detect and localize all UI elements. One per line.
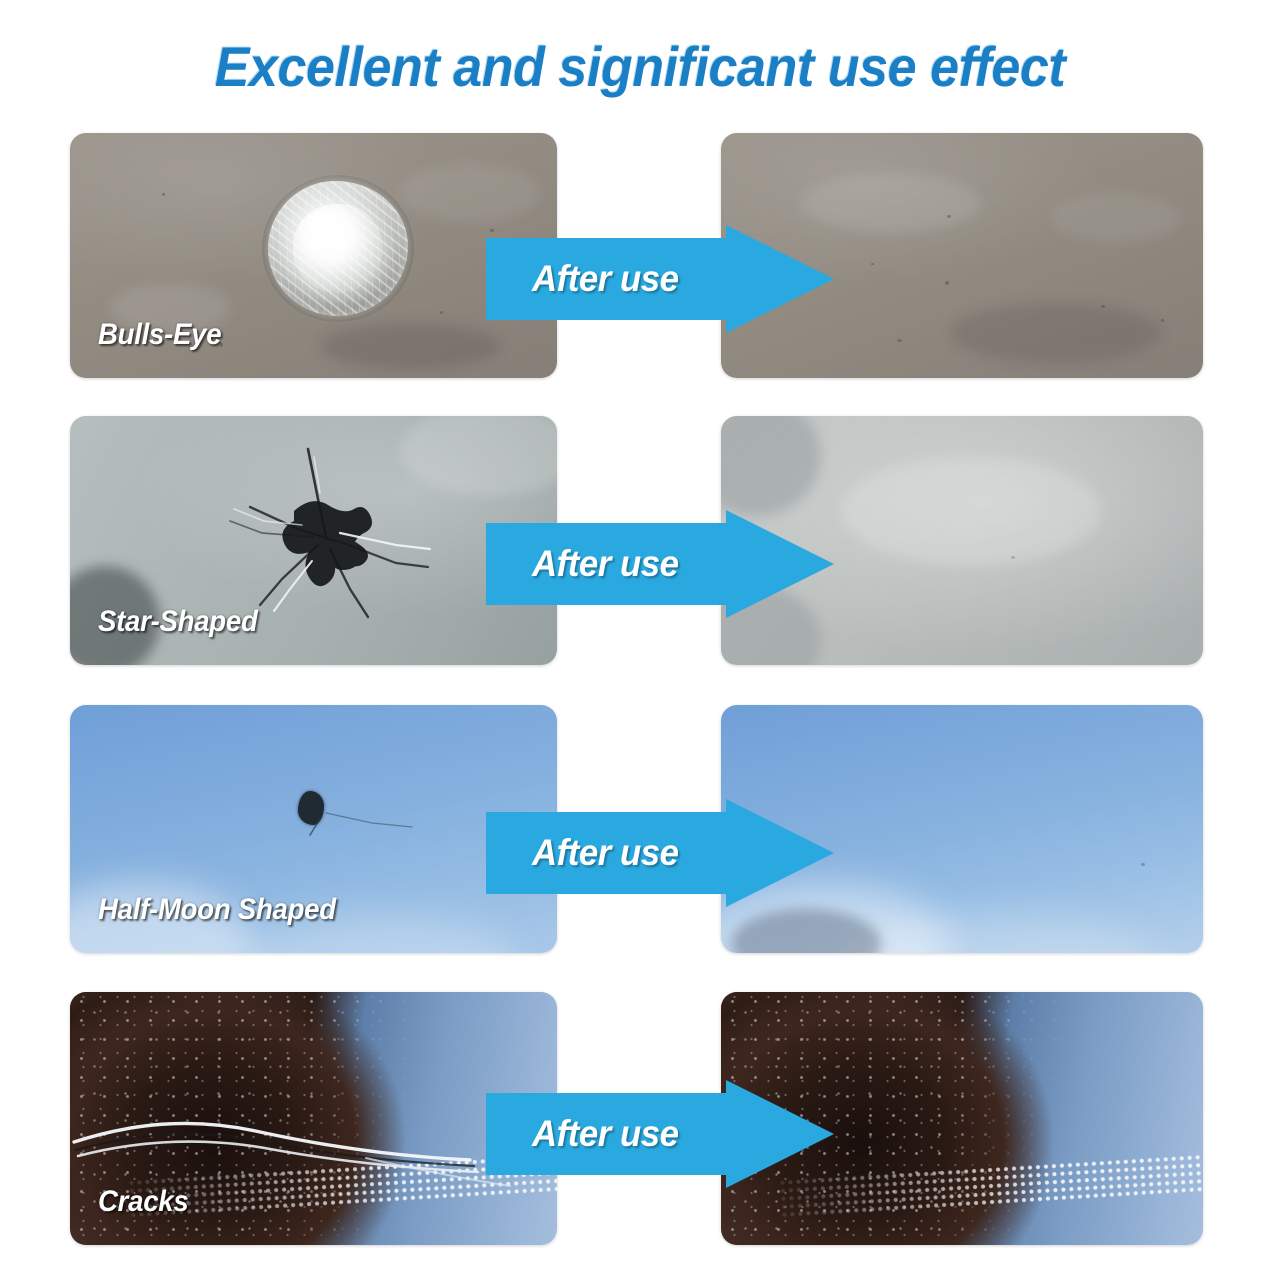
before-panel-cracks[interactable]: Cracks	[70, 992, 557, 1245]
right-arrow-icon	[486, 225, 834, 333]
comparison-row-cracks: Cracks After use	[0, 992, 1280, 1245]
before-panel-bulls-eye[interactable]: Bulls-Eye	[70, 133, 557, 378]
after-use-arrow-bulls-eye: After use	[486, 225, 834, 333]
right-arrow-icon	[486, 510, 834, 618]
before-panel-star-shaped[interactable]: Star-Shaped	[70, 416, 557, 665]
after-use-arrow-half-moon: After use	[486, 799, 834, 907]
damage-label-bulls-eye: Bulls-Eye	[98, 318, 221, 352]
infographic-canvas: Excellent and significant use effect Bul…	[0, 0, 1280, 1280]
damage-label-star-shaped: Star-Shaped	[98, 605, 258, 639]
comparison-row-star-shaped: Star-Shaped After use	[0, 416, 1280, 665]
before-panel-half-moon[interactable]: Half-Moon Shaped	[70, 705, 557, 953]
damage-label-cracks: Cracks	[98, 1185, 188, 1219]
comparison-row-half-moon: Half-Moon Shaped After use	[0, 705, 1280, 953]
right-arrow-icon	[486, 1080, 834, 1188]
damage-bulls-eye-chip	[268, 181, 408, 316]
after-use-arrow-star-shaped: After use	[486, 510, 834, 618]
right-arrow-icon	[486, 799, 834, 907]
half-moon-hairline-crack	[280, 785, 440, 845]
damage-label-half-moon: Half-Moon Shaped	[98, 893, 336, 927]
page-title: Excellent and significant use effect	[45, 36, 1235, 98]
comparison-row-bulls-eye: Bulls-Eye After use	[0, 133, 1280, 378]
damage-star-crack	[190, 441, 440, 626]
after-use-arrow-cracks: After use	[486, 1080, 834, 1188]
